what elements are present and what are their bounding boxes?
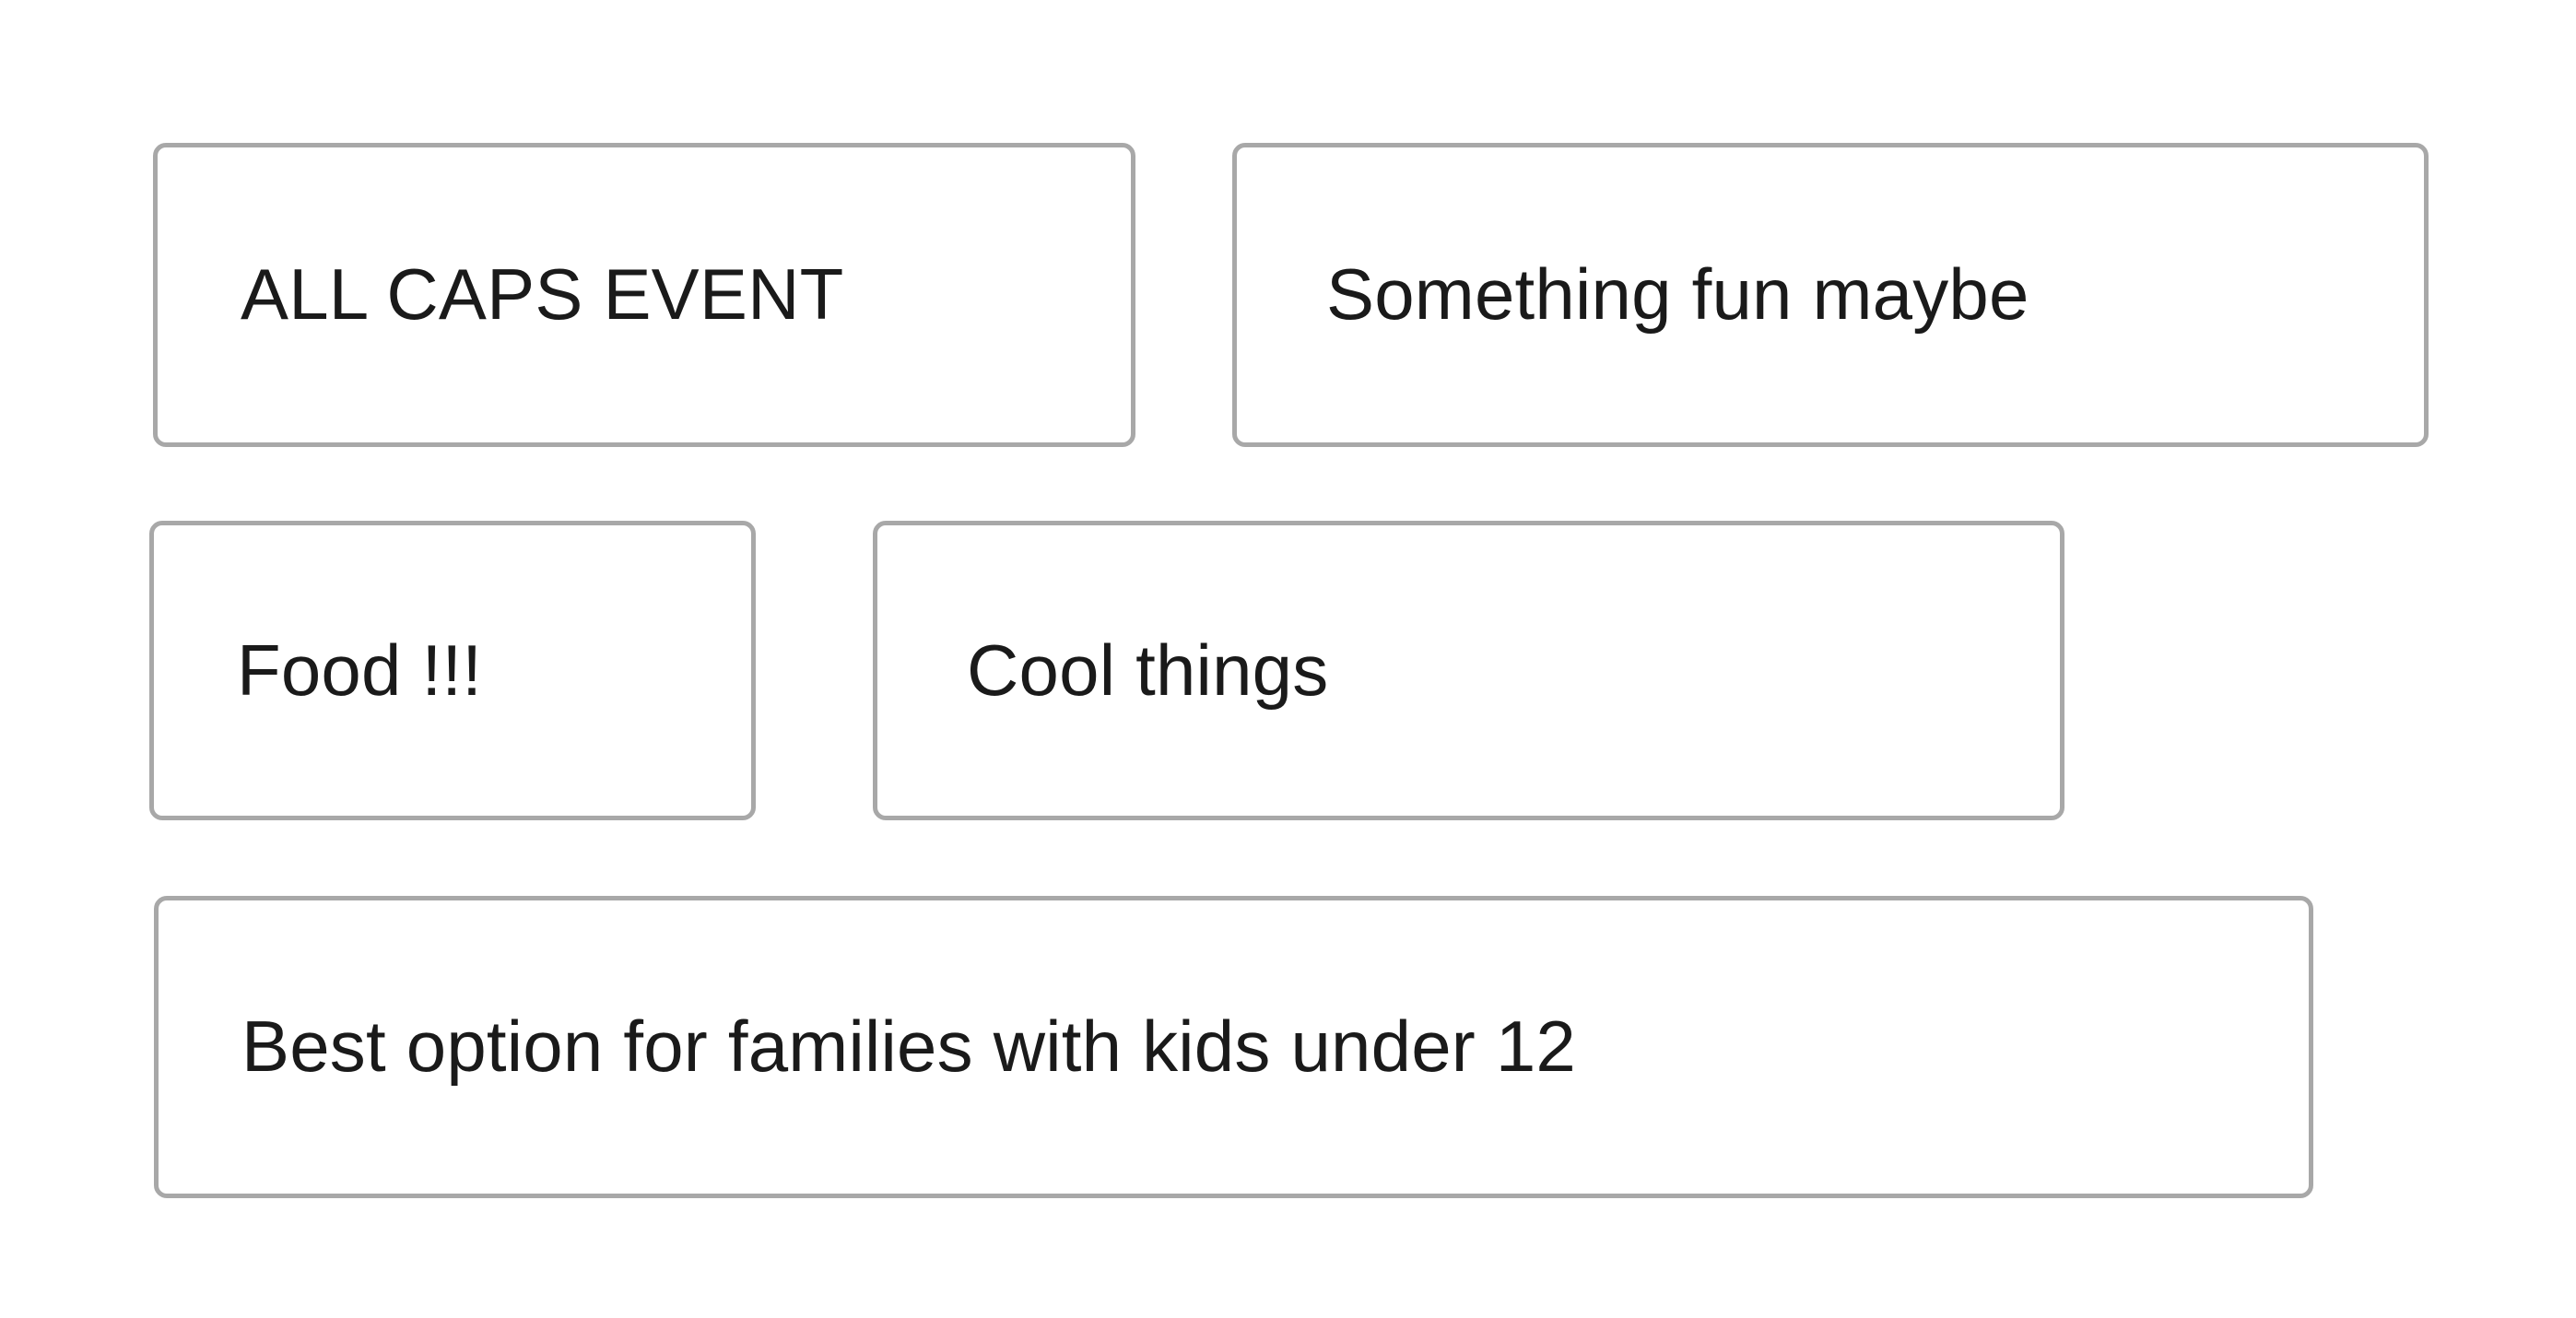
option-button-best-for-families[interactable]: Best option for families with kids under…	[154, 896, 2313, 1198]
option-row-1: ALL CAPS EVENT Something fun maybe	[153, 143, 2429, 447]
option-label-cool-things: Cool things	[967, 633, 1328, 709]
option-label-something-fun-maybe: Something fun maybe	[1326, 257, 2029, 333]
option-button-cool-things[interactable]: Cool things	[873, 521, 2064, 820]
option-row-2: Food !!! Cool things	[149, 521, 2064, 820]
options-container: ALL CAPS EVENT Something fun maybe Food …	[0, 0, 2576, 1318]
option-button-food[interactable]: Food !!!	[149, 521, 756, 820]
option-label-all-caps-event: ALL CAPS EVENT	[241, 257, 844, 333]
option-button-all-caps-event[interactable]: ALL CAPS EVENT	[153, 143, 1135, 447]
option-label-food: Food !!!	[237, 633, 482, 709]
option-label-best-for-families: Best option for families with kids under…	[241, 1009, 1576, 1085]
option-row-3: Best option for families with kids under…	[154, 896, 2313, 1198]
option-button-something-fun-maybe[interactable]: Something fun maybe	[1232, 143, 2429, 447]
